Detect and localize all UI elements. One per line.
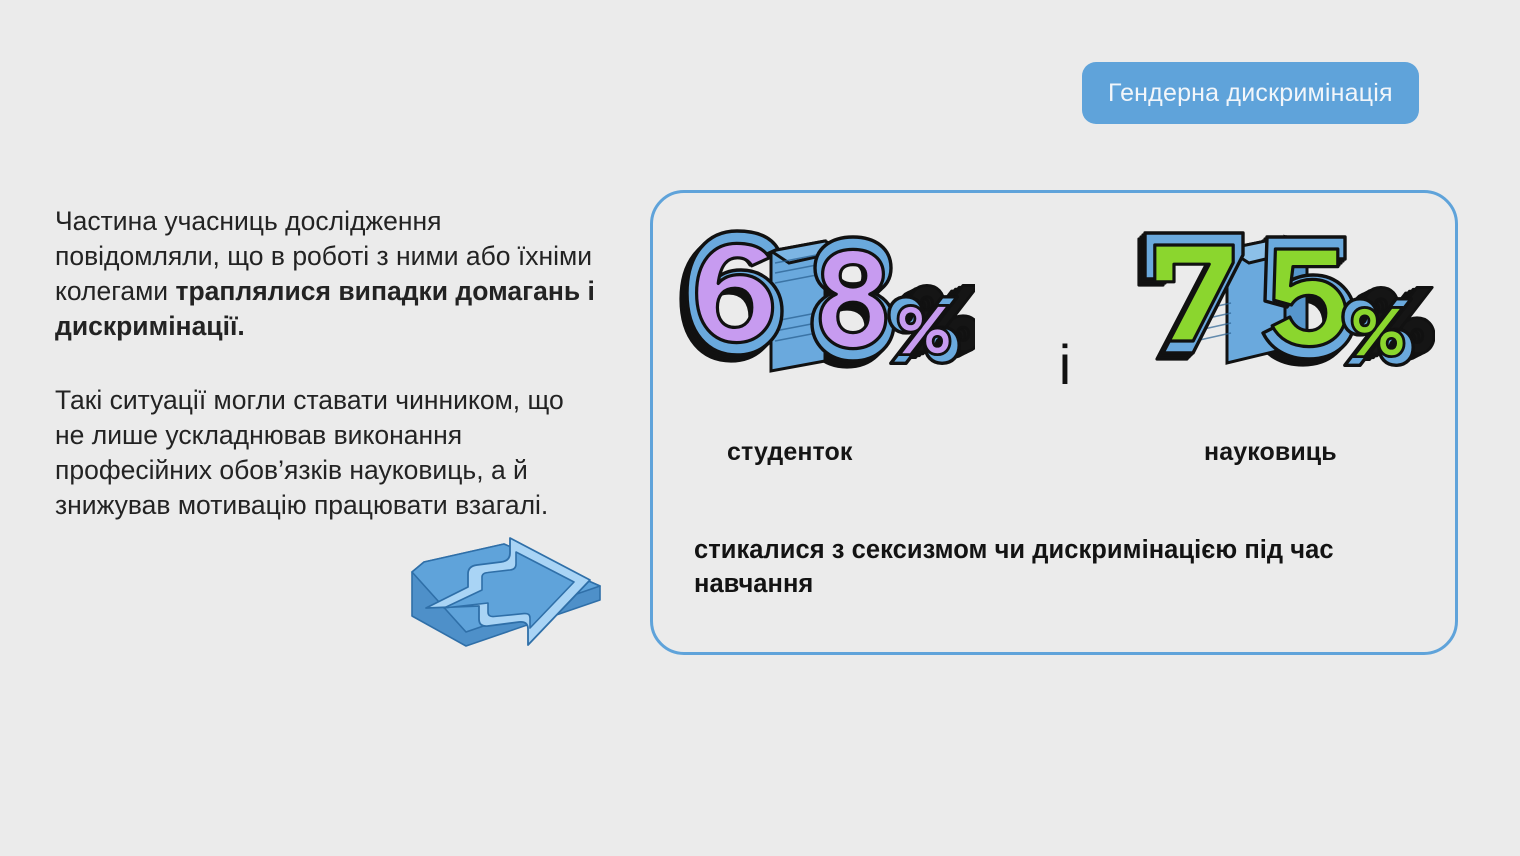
card-caption: стикалися з сексизмом чи дискримінацією … bbox=[694, 533, 1424, 601]
stat-figure-68-percent: 68 bbox=[675, 221, 975, 401]
stat-68-graphic: 68 bbox=[675, 221, 975, 401]
right-arrow-3d-icon bbox=[404, 524, 604, 649]
stat-figure-75-percent: 75 bbox=[1135, 221, 1435, 401]
paragraph-two: Такі ситуації могли ставати чинником, що… bbox=[55, 383, 595, 523]
conjunction-label: і bbox=[1045, 337, 1085, 393]
left-text-column: Частина учасниць дослідження повідомляли… bbox=[55, 204, 595, 523]
section-title-pill: Гендерна дискримінація bbox=[1082, 62, 1419, 124]
section-title-text: Гендерна дискримінація bbox=[1108, 79, 1393, 108]
digit-8-face bbox=[820, 249, 886, 348]
paragraph-one: Частина учасниць дослідження повідомляли… bbox=[55, 204, 595, 344]
statistics-row: 68 і bbox=[653, 221, 1455, 421]
stat-75-graphic: 75 bbox=[1135, 221, 1435, 401]
stat-label-scientists: науковиць bbox=[1204, 438, 1337, 467]
stat-label-students: студенток bbox=[727, 438, 853, 467]
statistics-card: 68 і bbox=[650, 190, 1458, 655]
